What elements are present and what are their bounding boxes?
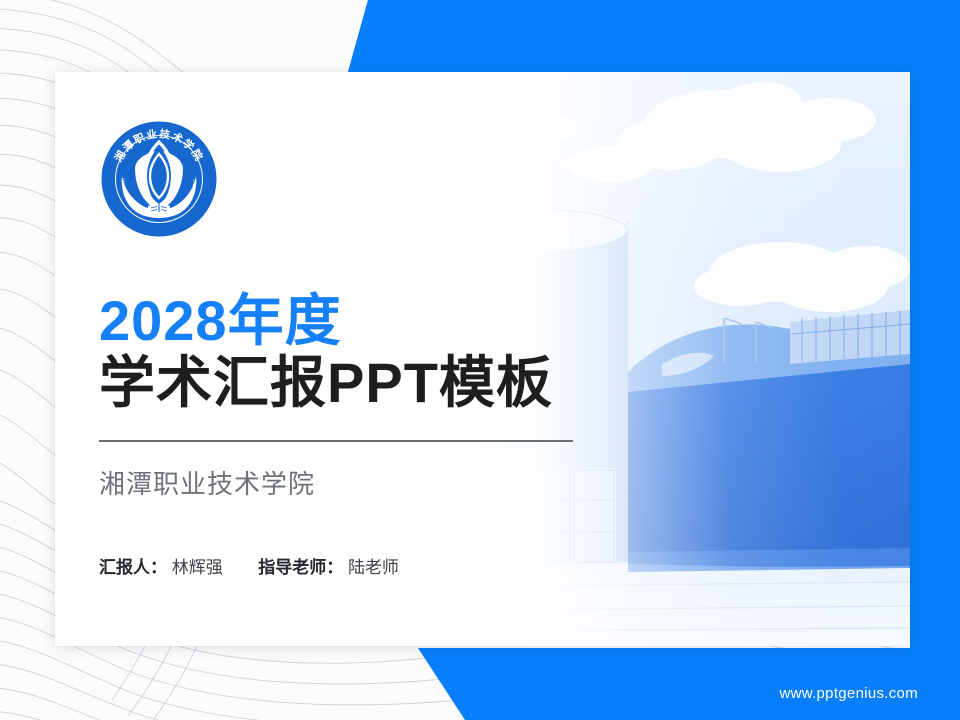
organization-name: 湘潭职业技术学院 xyxy=(99,464,573,501)
page-title: 学术汇报PPT模板 xyxy=(99,353,573,413)
credits-line: 汇报人： 林辉强 指导老师： 陆老师 xyxy=(99,553,573,578)
advisor-name: 陆老师 xyxy=(348,558,399,577)
advisor-label: 指导老师： xyxy=(258,558,343,577)
college-logo: 湘潭职业技术学院 XIANGTAN VOCATIONAL & TECHNICAL… xyxy=(100,120,218,238)
title-text-block: 2028年度 学术汇报PPT模板 湘潭职业技术学院 汇报人： 林辉强 指导老师：… xyxy=(99,292,573,578)
footer-website-url[interactable]: www.pptgenius.com xyxy=(780,685,919,702)
title-divider xyxy=(99,440,573,442)
title-year: 2028年度 xyxy=(99,292,573,349)
presenter-label: 汇报人： xyxy=(99,558,167,577)
presenter-name: 林辉强 xyxy=(172,558,223,577)
presentation-slide: 湘潭职业技术学院 XIANGTAN VOCATIONAL & TECHNICAL… xyxy=(0,0,960,720)
